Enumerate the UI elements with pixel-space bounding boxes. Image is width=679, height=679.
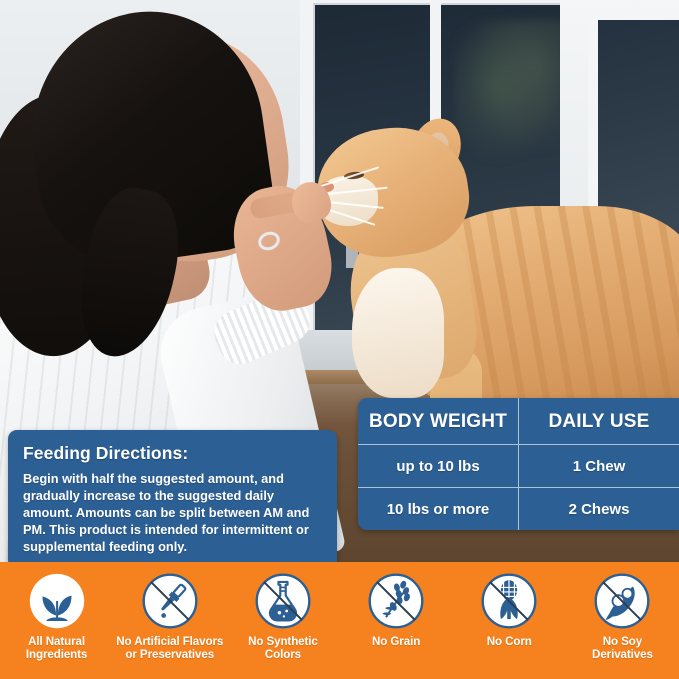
badge-label: No SyntheticColors <box>248 635 318 662</box>
badge-no-soy-derivatives: No SoyDerivatives <box>566 572 679 662</box>
cell-body-weight: 10 lbs or more <box>358 488 518 530</box>
badge-no-artificial-flavors: No Artificial Flavorsor Preservatives <box>113 572 226 662</box>
badge-label: All NaturalIngredients <box>26 635 87 662</box>
dosage-table: BODY WEIGHT DAILY USE up to 10 lbs 1 Che… <box>358 398 679 530</box>
badge-no-synthetic-colors: No SyntheticColors <box>226 572 339 662</box>
grain-icon <box>367 572 425 630</box>
window-foliage <box>455 20 565 170</box>
badge-label: No Grain <box>372 635 420 648</box>
badge-all-natural-ingredients: All NaturalIngredients <box>0 572 113 662</box>
badge-no-corn: No Corn <box>453 572 566 648</box>
sprout-icon <box>28 572 86 630</box>
table-row: 10 lbs or more 2 Chews <box>358 487 679 530</box>
feeding-directions-body: Begin with half the suggested amount, an… <box>23 471 322 555</box>
cell-body-weight: up to 10 lbs <box>358 445 518 487</box>
table-row: up to 10 lbs 1 Chew <box>358 444 679 487</box>
column-header-body-weight: BODY WEIGHT <box>358 398 518 444</box>
badge-label: No Artificial Flavorsor Preservatives <box>116 635 223 662</box>
table-header-row: BODY WEIGHT DAILY USE <box>358 398 679 444</box>
feeding-directions-panel: Feeding Directions: Begin with half the … <box>8 430 337 569</box>
badge-no-grain: No Grain <box>340 572 453 648</box>
cell-daily-use: 1 Chew <box>518 445 679 487</box>
product-infographic: Feeding Directions: Begin with half the … <box>0 0 679 679</box>
cell-daily-use: 2 Chews <box>518 488 679 530</box>
soy-icon <box>593 572 651 630</box>
dropper-icon <box>141 572 199 630</box>
corn-icon <box>480 572 538 630</box>
column-header-daily-use: DAILY USE <box>518 398 679 444</box>
badge-label: No Corn <box>487 635 532 648</box>
feeding-directions-title: Feeding Directions: <box>23 443 322 464</box>
cat-white-chest <box>352 268 444 398</box>
badge-label: No SoyDerivatives <box>592 635 653 662</box>
claims-badge-bar: All NaturalIngredients No Artificial Fla… <box>0 562 679 679</box>
flask-icon <box>254 572 312 630</box>
